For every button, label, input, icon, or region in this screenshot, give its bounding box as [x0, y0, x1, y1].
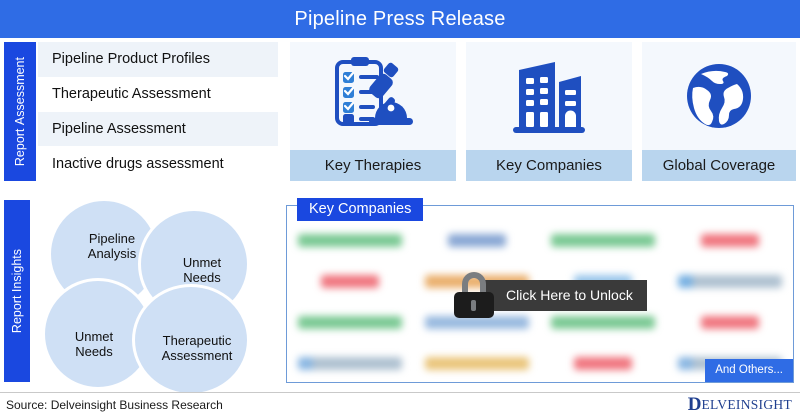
delveinsight-logo-text: ELVEINSIGHT — [701, 397, 792, 413]
company-logo-placeholder — [321, 275, 379, 288]
clipboard-microscope-icon — [290, 42, 456, 150]
list-item-label: Therapeutic Assessment — [52, 86, 211, 102]
venn-label-line2: Analysis — [88, 246, 136, 261]
venn-circle-therapeutic-assessment: Therapeutic Assessment — [132, 284, 250, 396]
company-logo-placeholder — [298, 234, 402, 247]
report-assessment-list: Pipeline Product Profiles Therapeutic As… — [38, 42, 278, 181]
venn-label-line2: Needs — [183, 270, 221, 285]
list-item[interactable]: Pipeline Assessment — [38, 112, 278, 147]
header-bar: Pipeline Press Release — [0, 0, 800, 38]
list-item-label: Pipeline Product Profiles — [52, 51, 210, 67]
company-logo-placeholder — [701, 234, 759, 247]
press-release-infographic: Pipeline Press Release Report Assessment… — [0, 0, 800, 420]
lock-icon — [452, 272, 496, 318]
page-title: Pipeline Press Release — [294, 8, 505, 31]
card-key-therapies[interactable]: Key Therapies — [290, 42, 456, 181]
sidebar-tab-report-insights-label: Report Insights — [10, 249, 24, 333]
venn-label-line1: Therapeutic — [162, 333, 233, 348]
company-logo-placeholder — [298, 316, 402, 329]
company-logo-placeholder — [701, 316, 759, 329]
venn-label-line1: Unmet — [183, 255, 221, 270]
sidebar-tab-report-assessment-line2: Assessment — [13, 57, 27, 125]
list-item[interactable]: Therapeutic Assessment — [38, 77, 278, 112]
list-item-label: Inactive drugs assessment — [52, 156, 224, 172]
key-companies-panel-title: Key Companies — [297, 198, 423, 221]
card-key-companies[interactable]: Key Companies — [466, 42, 632, 181]
delveinsight-logo-initial: D — [688, 396, 702, 413]
sidebar-tab-report-assessment[interactable]: Report Assessment — [4, 42, 36, 181]
card-global-coverage-label: Global Coverage — [642, 150, 796, 181]
venn-label-line2: Assessment — [162, 348, 233, 363]
company-logo-placeholder — [298, 357, 402, 370]
company-logo-placeholder — [448, 234, 506, 247]
list-item[interactable]: Pipeline Product Profiles — [38, 42, 278, 77]
sidebar-tab-report-insights[interactable]: Report Insights — [4, 200, 30, 382]
delveinsight-logo: D ELVEINSIGHT — [688, 396, 792, 413]
card-global-coverage[interactable]: Global Coverage — [642, 42, 796, 181]
venn-label-line1: Pipeline — [88, 231, 136, 246]
company-logo-placeholder — [678, 275, 782, 288]
venn-label-line1: Unmet — [75, 329, 113, 344]
card-key-companies-label: Key Companies — [466, 150, 632, 181]
footer-source-text: Source: Delveinsight Business Research — [6, 398, 223, 412]
sidebar-tab-report-assessment-line1: Report — [13, 129, 27, 167]
list-item[interactable]: Inactive drugs assessment — [38, 146, 278, 181]
unlock-tooltip-label[interactable]: Click Here to Unlock — [484, 280, 647, 311]
footer-divider — [0, 392, 800, 393]
list-item-label: Pipeline Assessment — [52, 121, 186, 137]
globe-icon — [642, 42, 796, 150]
and-others-badge[interactable]: And Others... — [705, 359, 793, 382]
company-logo-placeholder — [551, 234, 655, 247]
card-key-therapies-label: Key Therapies — [290, 150, 456, 181]
unlock-overlay[interactable]: Click Here to Unlock — [452, 272, 647, 318]
report-insights-venn: Pipeline Analysis Unmet Needs Unmet Need… — [42, 198, 274, 384]
company-logo-placeholder — [425, 357, 529, 370]
buildings-icon — [466, 42, 632, 150]
venn-label-line2: Needs — [75, 344, 113, 359]
company-logo-placeholder — [574, 357, 632, 370]
feature-cards: Key Therapies — [290, 42, 796, 181]
